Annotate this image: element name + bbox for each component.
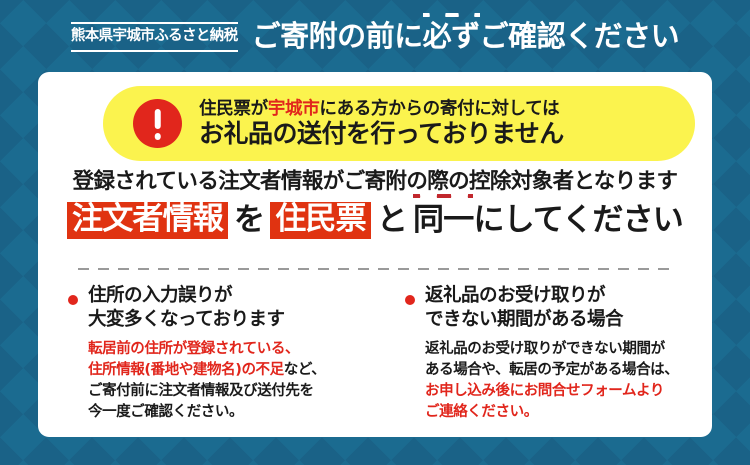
page-title-pre: ご寄附の前に [252, 22, 423, 51]
note-detail: 返礼品のお受け取りができない期間が ある場合や、転居の予定がある場合は、 お申し… [425, 339, 678, 424]
particle-wo: を [228, 203, 270, 238]
warning-notice-text: 住民票が宇城市にある方からの寄付に対しては お礼品の送付を行っておりません [199, 99, 564, 148]
bullet-icon [405, 295, 415, 305]
main-statement-line1: 登録されている注文者情報がご寄附の際の控除対象者となります [73, 170, 678, 195]
content-card: 住民票が宇城市にある方からの寄付に対しては お礼品の送付を行っておりません 登録… [38, 72, 712, 437]
note-detail: 転居前の住所が登録されている、 住所情報(番地や建物名)の不足など、 ご寄付前に… [88, 339, 325, 424]
bullet-icon [68, 295, 78, 305]
note-heading-line1: 返礼品のお受け取りが [425, 284, 678, 308]
note-detail-line-2: 住所情報(番地や建物名)の不足など、 [88, 360, 325, 381]
note-body: 返礼品のお受け取りが できない期間がある場合 返礼品のお受け取りができない期間が… [425, 284, 678, 423]
statement-emphasis: 同一 [413, 203, 473, 238]
brand-block: 熊本県宇城市ふるさと納税 [71, 20, 238, 52]
note-column-address: 住所の入力誤りが 大変多くなっております 転居前の住所が登録されている、 住所情… [38, 284, 375, 423]
highlight-residence-card: 住民票 [270, 202, 371, 239]
note-detail-line-3: お申し込み後にお問合せフォームより [425, 381, 678, 402]
note-detail-line-4: ご連絡ください。 [425, 402, 678, 423]
statement-tail: にしてください [473, 203, 683, 238]
note-detail-line-1: 返礼品のお受け取りができない期間が [425, 339, 678, 360]
warning-notice-line2: お礼品の送付を行っておりません [199, 120, 564, 148]
warning-notice: 住民票が宇城市にある方からの寄付に対しては お礼品の送付を行っておりません [103, 86, 695, 161]
exclamation-icon [133, 99, 182, 148]
notes-columns: 住所の入力誤りが 大変多くなっております 転居前の住所が登録されている、 住所情… [38, 284, 712, 423]
note-detail-line-3: ご寄付前に注文者情報及び送付先を [88, 381, 325, 402]
note-detail-line-4: 今一度ご確認ください。 [88, 402, 325, 423]
warning-line1-a: 住民票が [199, 99, 268, 119]
warning-notice-line1: 住民票が宇城市にある方からの寄付に対しては [199, 99, 564, 119]
page-title-emphasis: 必ず [423, 22, 480, 51]
brand-label: 熊本県宇城市ふるさと納税 [71, 29, 238, 45]
highlight-orderer-info: 注文者情報 [67, 202, 228, 239]
warning-line1-city: 宇城市 [268, 99, 320, 119]
note-heading-line2: できない期間がある場合 [425, 308, 678, 332]
main-statement-line2: 注文者情報 を 住民票 と同一にしてください [67, 202, 683, 239]
banner-root: 熊本県宇城市ふるさと納税 ご寄附の前に必ずご確認ください 住民票が宇城市にある方… [0, 0, 750, 465]
note-detail-line-2-tail: など、 [284, 362, 326, 378]
note-heading-line2: 大変多くなっております [88, 308, 325, 332]
brand-rule-bottom [71, 50, 238, 52]
note-column-delivery: 返礼品のお受け取りが できない期間がある場合 返礼品のお受け取りができない期間が… [375, 284, 712, 423]
note-heading-line1: 住所の入力誤りが [88, 284, 325, 308]
note-detail-line-2: ある場合や、転居の予定がある場合は、 [425, 360, 678, 381]
note-detail-line-2-red: 住所情報(番地や建物名)の不足 [88, 362, 284, 378]
warning-line1-b: にある方からの寄付に対しては [319, 99, 559, 119]
dashed-divider [78, 268, 672, 270]
main-statement: 登録されている注文者情報がご寄附の際の控除対象者となります 注文者情報 を 住民… [38, 170, 712, 239]
banner-header: 熊本県宇城市ふるさと納税 ご寄附の前に必ずご確認ください [0, 0, 750, 72]
note-detail-line-1: 転居前の住所が登録されている、 [88, 339, 325, 360]
note-body: 住所の入力誤りが 大変多くなっております 転居前の住所が登録されている、 住所情… [88, 284, 325, 423]
brand-rule-top [71, 22, 238, 24]
particle-to: と [371, 203, 413, 238]
page-title: ご寄附の前に必ずご確認ください [252, 22, 680, 51]
page-title-post: ご確認ください [480, 22, 680, 51]
